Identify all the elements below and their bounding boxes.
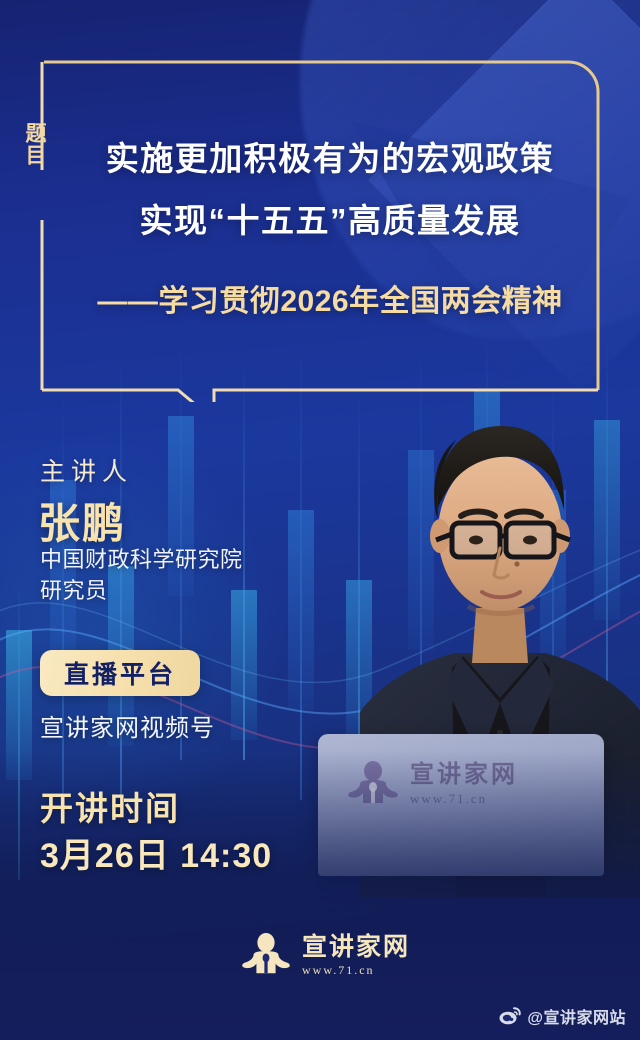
speaker-role-label: 主讲人 bbox=[40, 452, 133, 488]
title-block: 实施更加积极有为的宏观政策 实现“十五五”高质量发展 ——学习贯彻2026年全国… bbox=[70, 128, 590, 326]
title-line-1: 实施更加积极有为的宏观政策 bbox=[70, 128, 590, 190]
footer-speaker-icon bbox=[238, 932, 294, 978]
title-tag-label: 题目 bbox=[20, 122, 50, 166]
speaker-name: 张鹏 bbox=[38, 490, 126, 551]
time-label: 开讲时间 bbox=[40, 782, 180, 830]
speaker-org-line-1: 中国财政科学研究院 bbox=[40, 544, 340, 575]
footer-url-text: www.71.cn bbox=[302, 964, 410, 976]
title-subtitle: ——学习贯彻2026年全国两会精神 bbox=[70, 278, 590, 326]
weibo-watermark: @宣讲家网站 bbox=[499, 1004, 626, 1028]
time-value: 3月26日 14:30 bbox=[40, 828, 272, 877]
platform-value: 宣讲家网视频号 bbox=[40, 708, 215, 743]
footer-brand-text: 宣讲家网 bbox=[302, 935, 410, 960]
speaker-org-line-2: 研究员 bbox=[40, 575, 340, 606]
weibo-icon bbox=[499, 1007, 521, 1025]
title-line-2: 实现“十五五”高质量发展 bbox=[70, 190, 590, 252]
weibo-handle: @宣讲家网站 bbox=[527, 1004, 626, 1028]
speaker-organization: 中国财政科学研究院 研究员 bbox=[40, 544, 340, 606]
platform-badge: 直播平台 bbox=[40, 650, 200, 696]
live-stream-poster: 宣讲家网 www.71.cn 题目 实施更加积极有为的宏观政策 实现“十五五”高… bbox=[0, 0, 640, 1040]
platform-badge-label: 直播平台 bbox=[64, 655, 176, 691]
footer-logo: 宣讲家网 www.71.cn bbox=[238, 932, 410, 978]
